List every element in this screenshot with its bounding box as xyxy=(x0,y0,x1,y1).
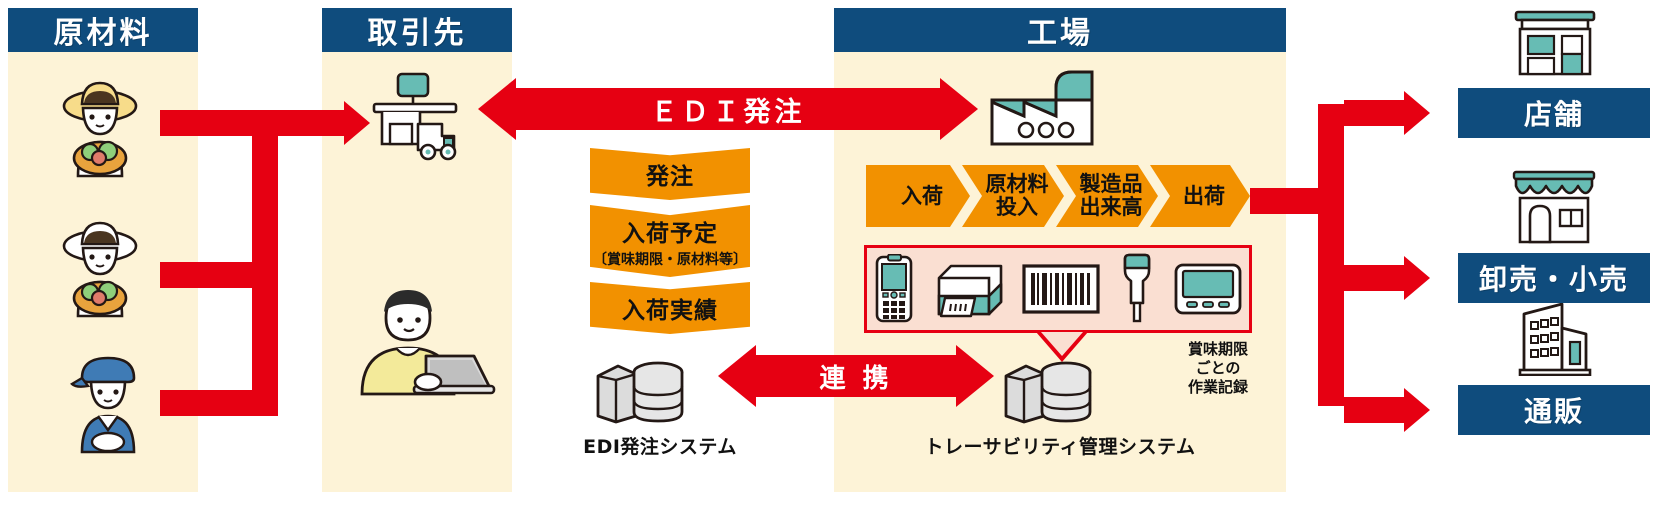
device-to-system-arrow-fill xyxy=(1041,332,1083,356)
office-building-icon xyxy=(1516,300,1596,380)
order-flow-step-label: 入荷予定 xyxy=(622,214,718,248)
diagram-canvas: 原材料 取引先 工場 ＥＤＩ発注 連 携 発注 入荷予定 〔賞味 xyxy=(0,0,1657,510)
column-header-partner: 取引先 xyxy=(322,8,512,52)
convenience-store-icon xyxy=(1510,8,1600,86)
distribution-center-icon xyxy=(362,72,474,172)
raw-bracket-outlet xyxy=(278,110,348,136)
column-header-raw-materials: 原材料 xyxy=(8,8,198,52)
process-step-line2: 出来高 xyxy=(1080,196,1143,219)
traceability-note-line-2: ごとの xyxy=(1158,359,1278,378)
traceability-note-line-1: 賞味期限 xyxy=(1158,340,1278,359)
process-step-line1: 原材料 xyxy=(986,173,1049,196)
order-flow-step-actual-arrival: 入荷実績 xyxy=(590,282,750,334)
edi-arrow-label: ＥＤＩ発注 xyxy=(478,88,978,130)
raw-bracket-branch-1 xyxy=(160,110,278,136)
database-icon xyxy=(592,358,688,428)
process-step-line2: 投入 xyxy=(996,196,1038,219)
process-step-line1: 出荷 xyxy=(1183,185,1225,208)
factory-process-step-receiving: 入荷 xyxy=(866,165,970,227)
order-flow-step-sublabel: 〔賞味期限・原材料等〕 xyxy=(593,249,747,269)
dist-arrowhead-mailorder xyxy=(1404,388,1430,432)
order-flow-step-label: 入荷実績 xyxy=(622,291,718,325)
label-printer-icon xyxy=(929,258,1007,320)
traceability-system-caption: トレーサビリティ管理システム xyxy=(890,432,1230,459)
dist-bracket-branch-1 xyxy=(1344,100,1412,126)
order-flow-step-label: 発注 xyxy=(646,157,694,191)
destination-label-mailorder: 通販 xyxy=(1458,385,1650,435)
edi-system-caption: EDI発注システム xyxy=(530,432,790,459)
fisher-icon xyxy=(62,348,154,462)
raw-bracket-branch-2 xyxy=(160,262,278,288)
column-header-factory: 工場 xyxy=(834,8,1286,52)
factory-icon xyxy=(986,66,1116,154)
dist-bracket-vertical xyxy=(1318,104,1344,406)
farmer-hat-icon xyxy=(52,212,148,326)
raw-bracket-branch-3 xyxy=(160,390,278,416)
dist-bracket-branch-3 xyxy=(1344,397,1412,423)
shopfloor-device-panel xyxy=(864,245,1252,333)
edi-order-arrow: ＥＤＩ発注 xyxy=(478,88,978,130)
order-flow-step-expected-arrival: 入荷予定 〔賞味期限・原材料等〕 xyxy=(590,205,750,277)
factory-process-step-shipping: 出荷 xyxy=(1150,165,1250,227)
barcode-icon xyxy=(1022,264,1100,314)
office-worker-laptop-icon xyxy=(340,282,500,416)
dist-bracket-branch-2 xyxy=(1344,265,1412,291)
order-flow-step-order: 発注 xyxy=(590,148,750,200)
destination-label-wholesale: 卸売・小売 xyxy=(1458,253,1650,303)
linkage-arrow-label: 連 携 xyxy=(718,355,994,397)
traceability-note-line-3: 作業記録 xyxy=(1158,378,1278,397)
process-step-line1: 製造品 xyxy=(1080,173,1143,196)
linkage-arrow: 連 携 xyxy=(718,355,994,397)
retail-shop-icon xyxy=(1506,168,1602,252)
destination-label-store: 店舗 xyxy=(1458,88,1650,138)
dist-arrowhead-store xyxy=(1404,91,1430,135)
farmer-hat-icon xyxy=(52,72,148,186)
process-step-line1: 入荷 xyxy=(901,185,943,208)
database-icon xyxy=(1000,358,1096,428)
factory-process-step-material-input: 原材料 投入 xyxy=(962,165,1064,227)
handheld-terminal-icon xyxy=(874,254,914,324)
traceability-note: 賞味期限 ごとの 作業記録 xyxy=(1158,340,1278,396)
factory-process-step-production-output: 製造品 出来高 xyxy=(1056,165,1158,227)
display-terminal-icon xyxy=(1174,263,1242,315)
barcode-scanner-icon xyxy=(1115,251,1159,327)
dist-arrowhead-wholesale xyxy=(1404,256,1430,300)
